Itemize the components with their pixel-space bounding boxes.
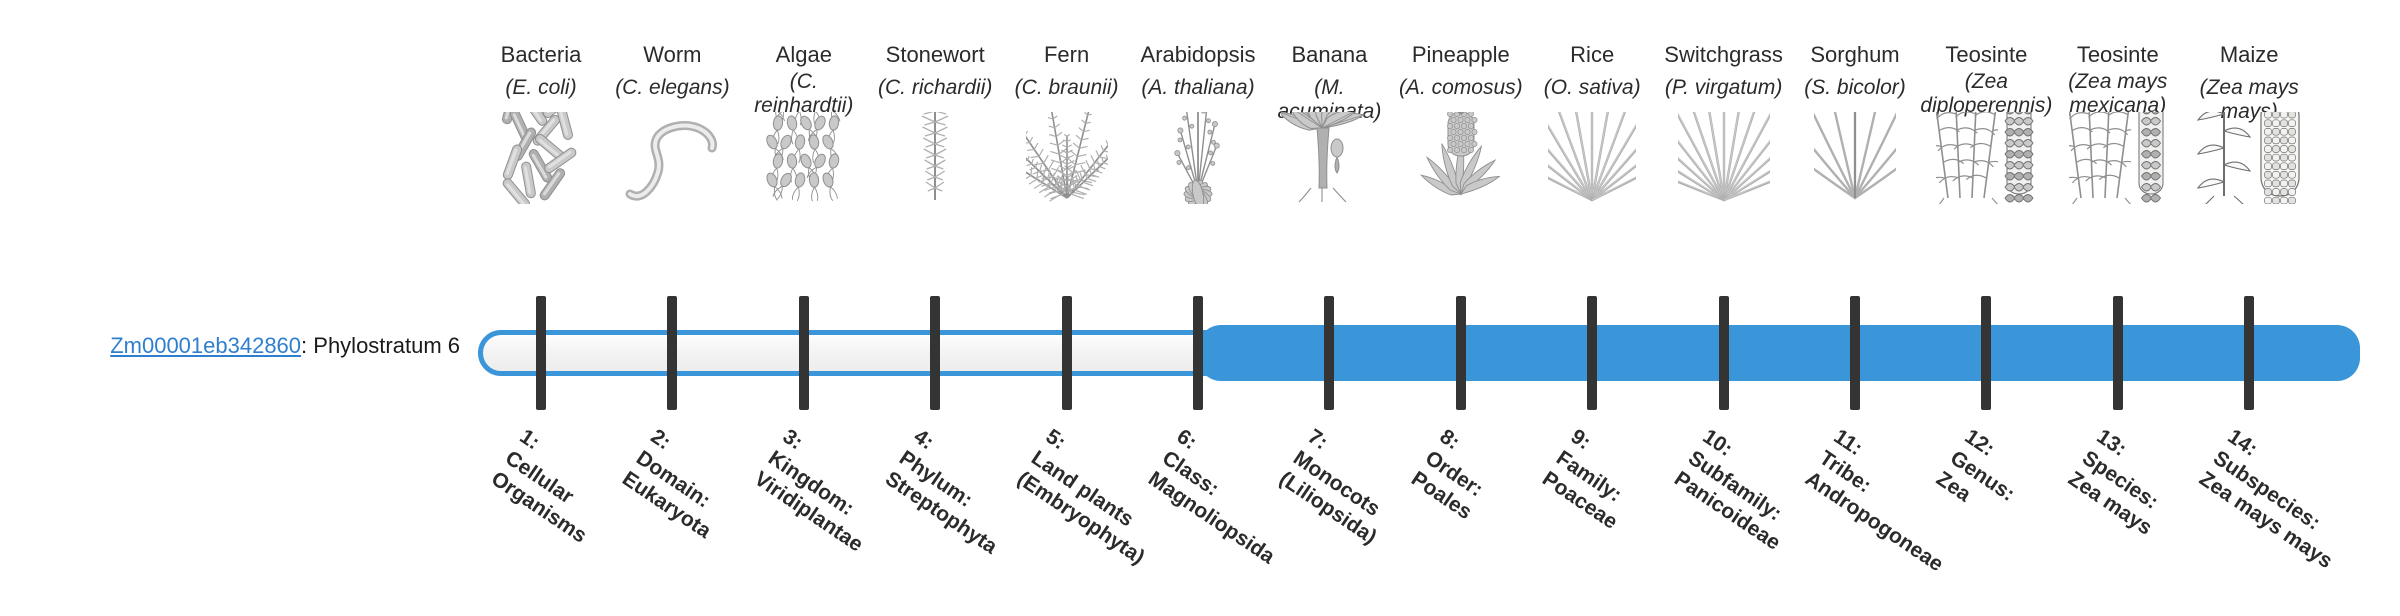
species-latin-name: (C. elegans): [606, 76, 738, 100]
pineapple-illustration: [1395, 112, 1527, 204]
stonewort-illustration: [869, 112, 1001, 204]
phylostratum-tick[interactable]: [2113, 296, 2123, 410]
species-latin-name: (Zea diploperennis): [1920, 70, 2052, 117]
progress-fill: [1198, 325, 2360, 381]
bacteria-illustration: [475, 112, 607, 204]
species-common-name: Sorghum: [1789, 42, 1921, 67]
species-latin-name: (E. coli): [475, 76, 607, 100]
species-latin-name: (A. thaliana): [1132, 76, 1264, 100]
species-common-name: Rice: [1526, 42, 1658, 67]
phylostratum-tick[interactable]: [1850, 296, 1860, 410]
species-common-name: Fern: [1001, 42, 1133, 67]
phylostratum-tick[interactable]: [536, 296, 546, 410]
phylostratum-tick[interactable]: [930, 296, 940, 410]
phylostratum-tick[interactable]: [1062, 296, 1072, 410]
species-common-name: Worm: [606, 42, 738, 67]
species-latin-name: (C. reinhardtii): [738, 70, 870, 117]
species-latin-name: (Zea mays mexicana): [2052, 70, 2184, 117]
species-latin-name: (P. virgatum): [1658, 76, 1790, 100]
species-latin-name: (O. sativa): [1526, 76, 1658, 100]
switchgrass-illustration: [1658, 112, 1790, 204]
phylostratum-tick[interactable]: [1456, 296, 1466, 410]
species-common-name: Banana: [1263, 42, 1395, 67]
gene-id-link[interactable]: Zm00001eb342860: [110, 333, 301, 358]
sorghum-illustration: [1789, 112, 1921, 204]
species-common-name: Switchgrass: [1658, 42, 1790, 67]
fern-illustration: [1001, 112, 1133, 204]
species-common-name: Maize: [2183, 42, 2315, 67]
species-latin-name: (S. bicolor): [1789, 76, 1921, 100]
phylostratum-timeline: Zm00001eb342860: Phylostratum 6 Bacteria…: [0, 0, 2400, 580]
phylostratum-progress-bar[interactable]: [478, 330, 2355, 376]
species-latin-name: (C. braunii): [1001, 76, 1133, 100]
species-common-name: Pineapple: [1395, 42, 1527, 67]
phylostratum-tick[interactable]: [1193, 296, 1203, 410]
phylostratum-value: Phylostratum 6: [313, 333, 460, 358]
phylostratum-tick[interactable]: [799, 296, 809, 410]
maize-illustration: [2183, 112, 2315, 204]
phylostratum-tick[interactable]: [1719, 296, 1729, 410]
gene-label-separator: :: [301, 333, 313, 358]
species-latin-name: (C. richardii): [869, 76, 1001, 100]
teosinte-mexicana-illustration: [2052, 112, 2184, 204]
rice-illustration: [1526, 112, 1658, 204]
species-common-name: Teosinte: [1920, 42, 2052, 67]
phylostratum-tick[interactable]: [1587, 296, 1597, 410]
arabidopsis-illustration: [1132, 112, 1264, 204]
species-common-name: Teosinte: [2052, 42, 2184, 67]
species-common-name: Stonewort: [869, 42, 1001, 67]
worm-illustration: [606, 112, 738, 204]
species-common-name: Algae: [738, 42, 870, 67]
species-latin-name: (A. comosus): [1395, 76, 1527, 100]
species-common-name: Arabidopsis: [1132, 42, 1264, 67]
phylostratum-tick[interactable]: [1324, 296, 1334, 410]
algae-illustration: [738, 112, 870, 204]
species-common-name: Bacteria: [475, 42, 607, 67]
teosinte-diploperennis-illustration: [1920, 112, 2052, 204]
banana-illustration: [1263, 112, 1395, 204]
gene-label: Zm00001eb342860: Phylostratum 6: [0, 335, 460, 357]
phylostratum-tick[interactable]: [667, 296, 677, 410]
phylostratum-tick[interactable]: [1981, 296, 1991, 410]
phylostratum-tick[interactable]: [2244, 296, 2254, 410]
